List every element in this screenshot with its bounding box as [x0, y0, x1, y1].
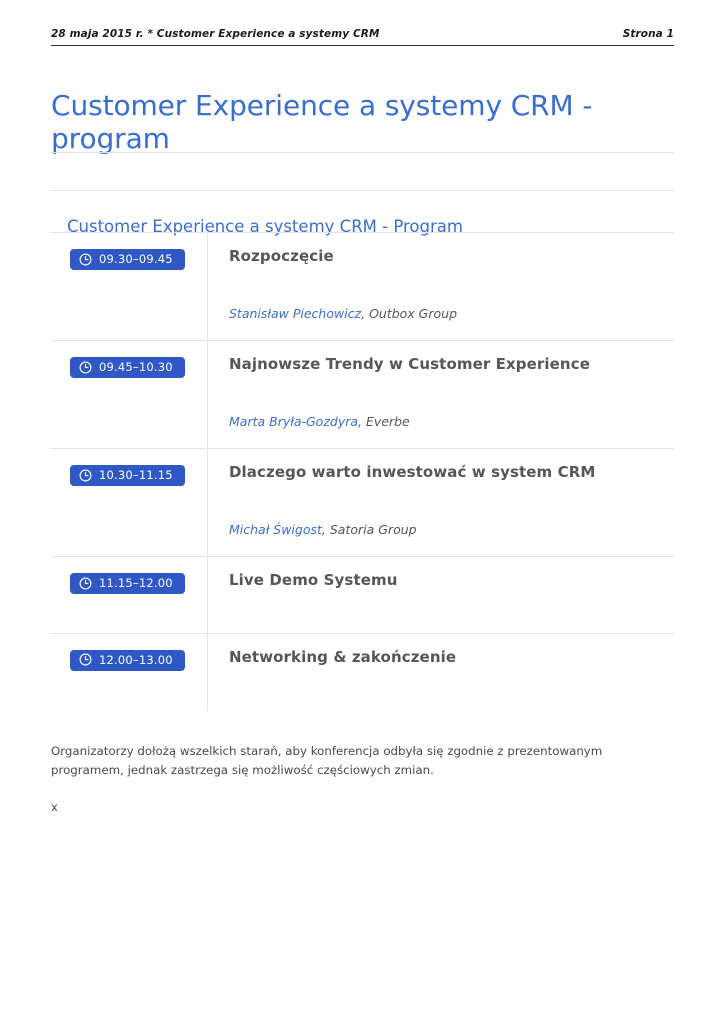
time-badge: 10.30–11.15 — [70, 465, 185, 486]
agenda-info-cell: Networking & zakończenie — [208, 634, 674, 711]
agenda-talk-title: Networking & zakończenie — [229, 648, 664, 667]
agenda-talk-title: Najnowsze Trendy w Customer Experience — [229, 355, 664, 374]
clock-icon — [79, 253, 92, 266]
clock-icon — [79, 469, 92, 482]
page-title: Customer Experience a systemy CRM - prog… — [51, 89, 611, 155]
header-rule — [51, 45, 674, 46]
agenda-talk-title: Dlaczego warto inwestować w system CRM — [229, 463, 664, 482]
agenda-speaker-org: , Everbe — [358, 414, 410, 429]
agenda-info-cell: Dlaczego warto inwestować w system CRM M… — [208, 449, 674, 556]
agenda-info-cell: Najnowsze Trendy w Customer Experience M… — [208, 341, 674, 448]
agenda-time-cell: 12.00–13.00 — [51, 634, 208, 711]
agenda-info-cell: Live Demo Systemu — [208, 557, 674, 633]
time-badge-label: 09.30–09.45 — [99, 252, 173, 266]
agenda-speaker-line: Michał Świgost, Satoria Group — [229, 522, 664, 538]
agenda-row: 10.30–11.15 Dlaczego warto inwestować w … — [51, 448, 674, 556]
time-badge: 12.00–13.00 — [70, 650, 185, 671]
agenda-row: 09.45–10.30 Najnowsze Trendy w Customer … — [51, 340, 674, 448]
agenda-talk-title: Live Demo Systemu — [229, 571, 664, 590]
agenda-talk-title: Rozpoczęcie — [229, 247, 664, 266]
header-page-number: Strona 1 — [623, 28, 674, 40]
time-badge-label: 10.30–11.15 — [99, 468, 173, 482]
clock-icon — [79, 653, 92, 666]
agenda-speaker-org: , Outbox Group — [361, 306, 457, 321]
time-badge: 09.45–10.30 — [70, 357, 185, 378]
agenda-speaker-org: , Satoria Group — [322, 522, 417, 537]
stray-character: x — [51, 800, 58, 814]
clock-icon — [79, 361, 92, 374]
time-badge: 09.30–09.45 — [70, 249, 185, 270]
time-badge-label: 11.15–12.00 — [99, 576, 173, 590]
time-badge: 11.15–12.00 — [70, 573, 185, 594]
agenda-time-cell: 10.30–11.15 — [51, 449, 208, 556]
document-page: 28 maja 2015 r. * Customer Experience a … — [0, 0, 725, 1024]
agenda-time-cell: 11.15–12.00 — [51, 557, 208, 633]
disclaimer-note: Organizatorzy dołożą wszelkich starań, a… — [51, 742, 663, 780]
time-badge-label: 12.00–13.00 — [99, 653, 173, 667]
header-left-text: 28 maja 2015 r. * Customer Experience a … — [51, 28, 380, 40]
time-badge-label: 09.45–10.30 — [99, 360, 173, 374]
agenda-row: 11.15–12.00 Live Demo Systemu — [51, 556, 674, 633]
agenda-speaker-line: Marta Bryła-Gozdyra, Everbe — [229, 414, 664, 430]
agenda-speaker-name: Stanisław Piechowicz — [229, 306, 361, 321]
page-running-header: 28 maja 2015 r. * Customer Experience a … — [51, 28, 674, 40]
divider-above-section — [51, 190, 674, 191]
agenda-table: 09.30–09.45 Rozpoczęcie Stanisław Piecho… — [51, 232, 674, 711]
divider-under-title — [51, 152, 674, 153]
clock-icon — [79, 577, 92, 590]
agenda-info-cell: Rozpoczęcie Stanisław Piechowicz, Outbox… — [208, 233, 674, 340]
agenda-row: 09.30–09.45 Rozpoczęcie Stanisław Piecho… — [51, 232, 674, 340]
agenda-time-cell: 09.30–09.45 — [51, 233, 208, 340]
agenda-row: 12.00–13.00 Networking & zakończenie — [51, 633, 674, 711]
agenda-speaker-name: Marta Bryła-Gozdyra — [229, 414, 358, 429]
agenda-speaker-name: Michał Świgost — [229, 522, 322, 537]
agenda-time-cell: 09.45–10.30 — [51, 341, 208, 448]
agenda-speaker-line: Stanisław Piechowicz, Outbox Group — [229, 306, 664, 322]
